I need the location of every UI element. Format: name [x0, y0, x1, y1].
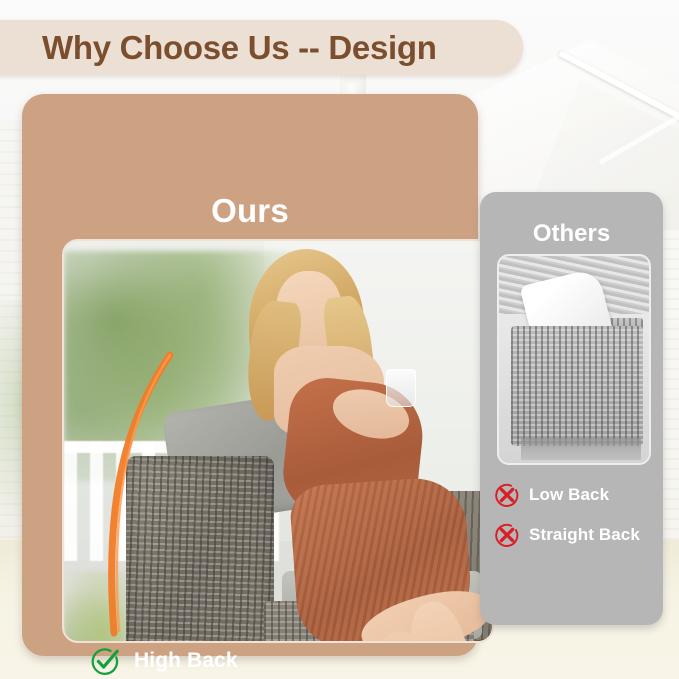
page-title: Why Choose Us -- Design [42, 29, 437, 67]
ours-feature-list: High Back Ergonomic Curve Lumbar Support [90, 646, 490, 679]
list-item-label: High Back [134, 649, 238, 673]
others-feature-list: Low Back Straight Back [494, 482, 664, 562]
ours-panel: Ours [22, 94, 478, 656]
lumbar-curve-indicator [74, 341, 194, 641]
list-item-label: Straight Back [529, 525, 640, 545]
ours-title: Ours [22, 192, 478, 230]
others-panel: Others Low Back Straight [480, 192, 663, 625]
list-item: Straight Back [494, 522, 664, 548]
promo-image-root: Why Choose Us -- Design Ours [0, 0, 679, 679]
check-circle-icon [90, 646, 120, 676]
others-title: Others [480, 220, 663, 248]
others-chair-shadow [521, 438, 641, 460]
list-item-label: Low Back [529, 485, 609, 505]
others-product-photo [497, 254, 651, 465]
list-item: High Back [90, 646, 490, 676]
list-item: Low Back [494, 482, 664, 508]
model-drinking-glass [386, 369, 416, 407]
x-circle-icon [494, 522, 520, 548]
ours-product-photo [62, 239, 494, 643]
x-circle-icon [494, 482, 520, 508]
others-chair-body [511, 326, 643, 446]
title-banner: Why Choose Us -- Design [0, 20, 523, 75]
